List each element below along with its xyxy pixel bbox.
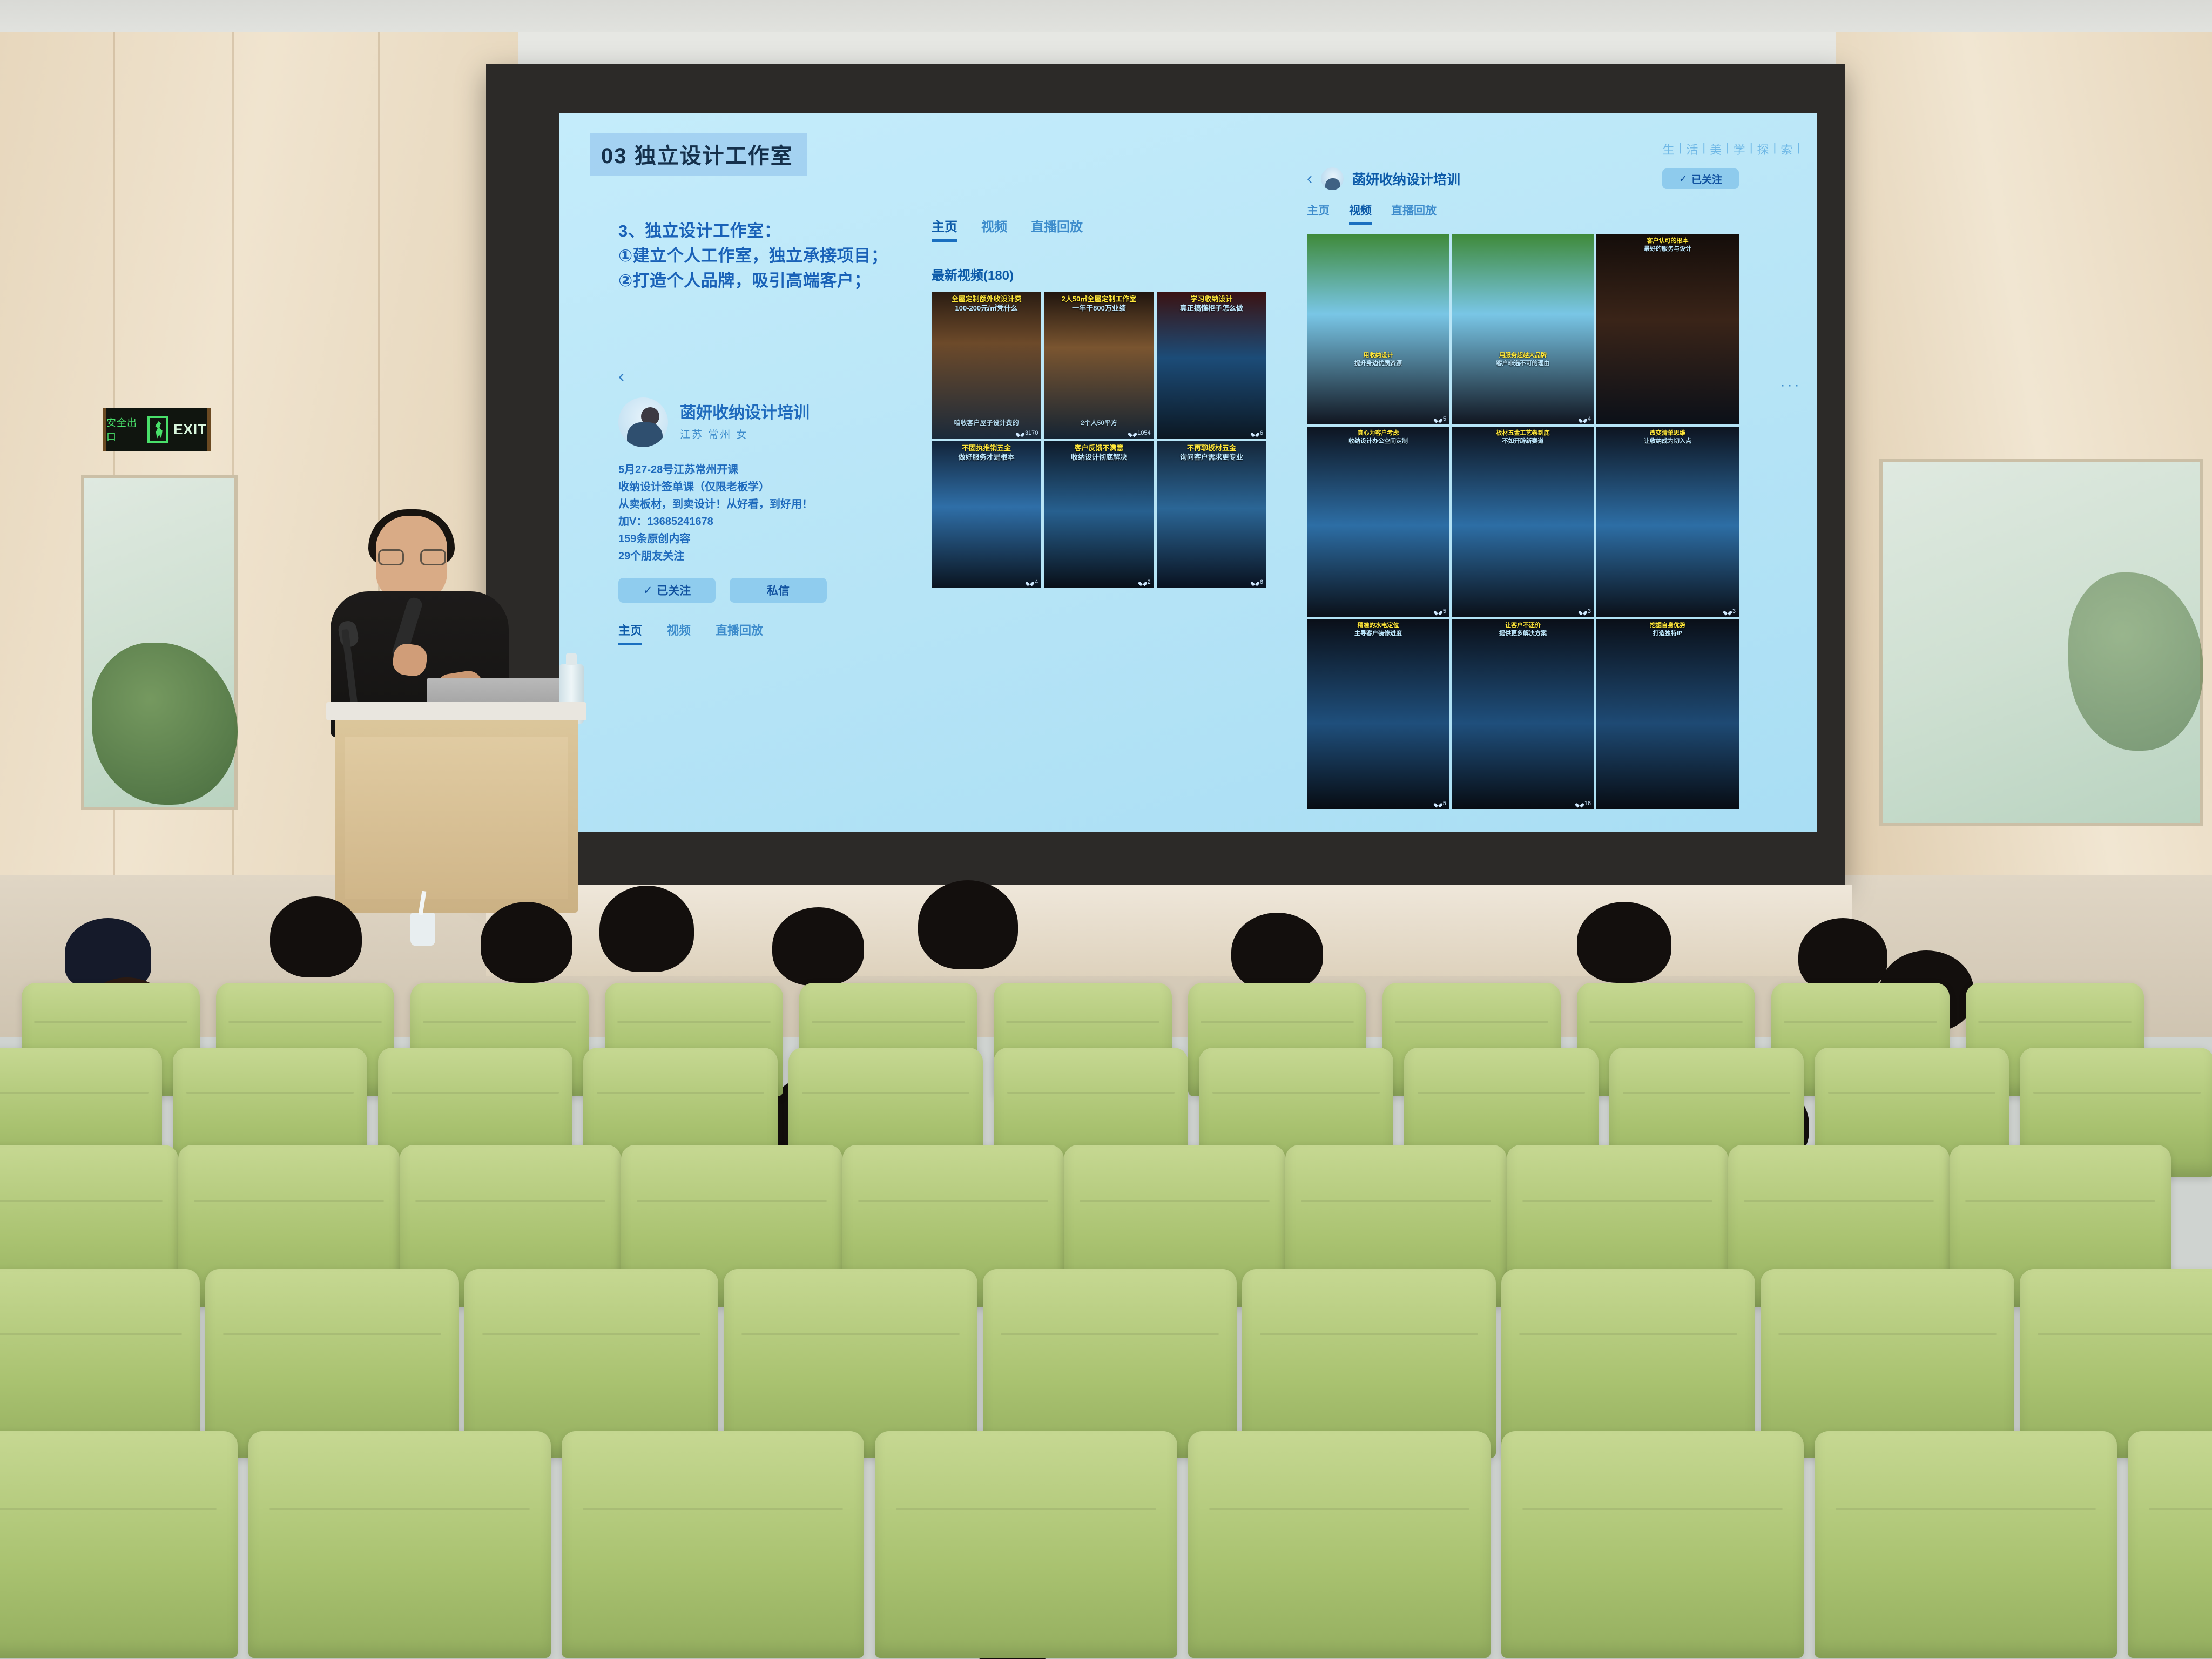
podium xyxy=(335,713,578,913)
video-caption-primary: 板材五金工艺卷到底 xyxy=(1452,430,1594,436)
profile-bio: 5月27-28号江苏常州开课 收纳设计签单课（仅限老板学） 从卖板材，到卖设计！… xyxy=(618,461,867,565)
heart-icon xyxy=(1252,580,1258,585)
middle-tab-home[interactable]: 主页 xyxy=(932,216,957,242)
video-thumbnail-image xyxy=(1596,234,1739,424)
video-like-count: 1054 xyxy=(1130,430,1150,436)
video-like-count: 6 xyxy=(1252,430,1263,436)
video-like-count: 5 xyxy=(1435,800,1446,807)
middle-panel: 主页 视频 直播回放 最新视频(180) 全屋定制额外收设计费100-200元/… xyxy=(932,216,1266,588)
video-caption-secondary: 100-200元/㎡凭什么 xyxy=(932,305,1041,313)
video-caption-primary: 客户反馈不满意 xyxy=(1044,444,1154,453)
audience-member-head xyxy=(270,896,362,977)
video-like-number: 4 xyxy=(1035,579,1038,585)
video-thumbnail-image xyxy=(1307,234,1449,424)
heart-icon xyxy=(1580,417,1586,422)
video-thumbnail-image xyxy=(1157,441,1266,588)
video-caption-primary: 用服务超越大品牌 xyxy=(1452,352,1594,359)
video-thumbnail[interactable]: 不再聊板材五金询问客户需求更专业6 xyxy=(1157,441,1266,588)
slide-title-text: 03 独立设计工作室 xyxy=(601,144,793,168)
video-like-number: 3 xyxy=(1588,608,1591,615)
audience-seat xyxy=(205,1269,459,1458)
video-like-number: 5 xyxy=(1443,800,1446,807)
video-like-number: 6 xyxy=(1260,430,1263,436)
profile-meta: 江苏 常州 女 xyxy=(680,427,810,441)
profile-tab-video[interactable]: 视频 xyxy=(667,621,691,645)
video-like-count: 16 xyxy=(1577,800,1591,807)
follow-button-label: 已关注 xyxy=(657,582,691,598)
audience-seat xyxy=(724,1269,977,1458)
bio-line-1: 收纳设计签单课（仅限老板学） xyxy=(618,478,867,496)
header-tag-5: 索 xyxy=(1781,140,1793,158)
video-thumbnail[interactable]: 让客户不还价提供更多解决方案16 xyxy=(1452,619,1594,809)
profile-screenshot: ‹ 菡妍收纳设计培训 江苏 常州 女 5月27-28号江苏常州开课 收纳设计签单… xyxy=(618,367,867,645)
right-tab-home[interactable]: 主页 xyxy=(1307,202,1330,225)
message-button[interactable]: 私信 xyxy=(730,578,827,603)
profile-name: 菡妍收纳设计培训 xyxy=(680,403,810,423)
video-caption-secondary: 提供更多解决方案 xyxy=(1452,630,1594,637)
video-thumbnail[interactable]: 不固执推销五金做好服务才是根本4 xyxy=(932,441,1041,588)
video-thumbnail[interactable]: 真心为客户考虑收纳设计办公空间定制5 xyxy=(1307,427,1449,617)
video-caption-subtitle: 2个人50平方 xyxy=(1044,420,1154,427)
heart-icon xyxy=(1027,580,1033,585)
video-thumbnail-image xyxy=(932,441,1041,588)
video-thumbnail[interactable]: 精准的水电定位主导客户装修进度5 xyxy=(1307,619,1449,809)
video-caption-secondary: 一年干800万业绩 xyxy=(1044,305,1154,313)
video-caption-secondary: 提升身边优质资源 xyxy=(1307,360,1449,367)
video-caption-primary: 让客户不还价 xyxy=(1452,622,1594,629)
heart-icon xyxy=(1140,580,1145,585)
video-thumbnail[interactable]: 客户认可的根本最好的服务与设计 xyxy=(1596,234,1739,424)
profile-avatar xyxy=(618,397,668,447)
slide-header-tags: 生| 活| 美| 学| 探| 索| xyxy=(1663,140,1801,158)
video-like-count: 4 xyxy=(1027,579,1038,585)
video-caption-secondary: 打造独特IP xyxy=(1596,630,1739,637)
video-caption-primary: 挖掘自身优势 xyxy=(1596,622,1739,629)
video-caption-secondary: 收纳设计彻底解决 xyxy=(1044,454,1154,462)
check-icon: ✓ xyxy=(1679,173,1688,185)
video-caption-primary: 不固执推销五金 xyxy=(932,444,1041,453)
video-caption-primary: 全屋定制额外收设计费 xyxy=(932,295,1041,304)
bullet-1: ①建立个人工作室，独立承接项目； xyxy=(618,244,888,268)
projection-screen-surface: 生| 活| 美| 学| 探| 索| 03 独立设计工作室 3、独立设计工作室： … xyxy=(559,113,1817,832)
video-like-count: 5 xyxy=(1435,608,1446,615)
video-like-number: 2 xyxy=(1148,579,1151,585)
video-thumbnail[interactable]: 用收纳设计提升身边优质资源5 xyxy=(1307,234,1449,424)
audience-member-head xyxy=(1798,918,1887,994)
audience-seat xyxy=(1188,1431,1491,1658)
glasses-icon xyxy=(378,549,446,565)
video-like-number: 16 xyxy=(1584,800,1591,807)
audience-member-head xyxy=(1231,913,1323,991)
video-caption-subtitle: 咱收客户屋子设计费的 xyxy=(932,420,1041,427)
slide-bullets: 3、独立设计工作室： ①建立个人工作室，独立承接项目； ②打造个人品牌，吸引高端… xyxy=(618,219,888,293)
video-thumbnail-image xyxy=(1044,441,1154,588)
video-like-number: 5 xyxy=(1443,608,1446,615)
bio-line-0: 5月27-28号江苏常州开课 xyxy=(618,461,867,478)
video-caption-primary: 不再聊板材五金 xyxy=(1157,444,1266,453)
right-avatar xyxy=(1321,167,1344,190)
header-tag-3: 学 xyxy=(1734,140,1746,158)
video-like-number: 3 xyxy=(1732,608,1736,615)
video-caption-primary: 客户认可的根本 xyxy=(1596,238,1739,244)
video-caption-secondary: 询问客户需求更专业 xyxy=(1157,454,1266,462)
video-like-count: 4 xyxy=(1580,416,1591,422)
heart-icon xyxy=(1017,431,1023,436)
video-thumbnail-image xyxy=(1307,619,1449,809)
video-thumbnail-image xyxy=(1452,427,1594,617)
video-like-count: 3170 xyxy=(1017,430,1038,436)
right-panel: ‹ 菡妍收纳设计培训 ✓ 已关注 主页 视频 直播回放 用收纳设计提升身边优质资… xyxy=(1307,167,1739,809)
exit-sign-cn-label: 安全出口 xyxy=(106,415,142,443)
video-thumbnail-image xyxy=(1596,619,1739,809)
video-like-number: 1054 xyxy=(1137,430,1150,436)
message-button-label: 私信 xyxy=(767,582,790,598)
exit-sign: 安全出口 EXIT xyxy=(103,408,211,451)
video-like-number: 5 xyxy=(1443,416,1446,422)
video-caption-primary: 学习收纳设计 xyxy=(1157,295,1266,304)
audience-seat xyxy=(1815,1431,2117,1658)
audience-seat xyxy=(1761,1269,2014,1458)
header-tag-2: 美 xyxy=(1710,140,1723,158)
right-tab-video[interactable]: 视频 xyxy=(1349,202,1372,225)
follow-button[interactable]: ✓ 已关注 xyxy=(618,578,716,603)
audience-member-head xyxy=(918,880,1018,969)
running-man-icon xyxy=(147,416,168,443)
audience-seat xyxy=(875,1431,1177,1658)
exit-sign-en-label: EXIT xyxy=(173,421,207,438)
right-panel-tabs: 主页 视频 直播回放 xyxy=(1307,202,1739,225)
bio-line-5: 29个朋友关注 xyxy=(618,548,867,565)
audience-seat xyxy=(0,1431,238,1658)
middle-section-title: 最新视频(180) xyxy=(932,265,1266,284)
header-tag-4: 探 xyxy=(1757,140,1770,158)
video-caption-secondary: 主导客户装修进度 xyxy=(1307,630,1449,637)
check-icon: ✓ xyxy=(643,584,653,597)
video-like-count: 3 xyxy=(1725,608,1736,615)
audience-seat xyxy=(2128,1431,2212,1658)
audience-seating xyxy=(0,983,2212,1659)
middle-tab-video[interactable]: 视频 xyxy=(981,216,1007,242)
bullet-0: 3、独立设计工作室： xyxy=(618,219,888,244)
video-thumbnail[interactable]: 客户反馈不满意收纳设计彻底解决2 xyxy=(1044,441,1154,588)
heart-icon xyxy=(1130,431,1135,436)
video-thumbnail-image xyxy=(1452,619,1594,809)
video-thumbnail[interactable]: 2人50㎡全屋定制工作室一年干800万业绩2个人50平方1054 xyxy=(1044,292,1154,439)
video-thumbnail-image xyxy=(1452,234,1594,424)
video-caption-secondary: 让收纳成为切入点 xyxy=(1596,438,1739,444)
video-like-count: 3 xyxy=(1580,608,1591,615)
video-thumbnail-image xyxy=(1596,427,1739,617)
video-caption-primary: 真心为客户考虑 xyxy=(1307,430,1449,436)
presentation-slide: 生| 活| 美| 学| 探| 索| 03 独立设计工作室 3、独立设计工作室： … xyxy=(559,113,1817,832)
bio-line-4: 159条原创内容 xyxy=(618,530,867,548)
heart-icon xyxy=(1725,609,1730,614)
profile-tab-home[interactable]: 主页 xyxy=(618,621,642,645)
video-caption-secondary: 收纳设计办公空间定制 xyxy=(1307,438,1449,444)
bullet-2: ②打造个人品牌，吸引高端客户； xyxy=(618,268,888,293)
profile-back-icon[interactable]: ‹ xyxy=(618,367,867,386)
header-tag-0: 生 xyxy=(1663,140,1676,158)
video-thumbnail[interactable]: 用服务超越大品牌客户非选不可的理由4 xyxy=(1452,234,1594,424)
video-caption-secondary: 真正搞懂柜子怎么做 xyxy=(1157,305,1266,313)
heart-icon xyxy=(1435,417,1441,422)
right-tab-replay[interactable]: 直播回放 xyxy=(1391,202,1437,225)
video-caption-primary: 用收纳设计 xyxy=(1307,352,1449,359)
profile-tabs: 主页 视频 直播回放 xyxy=(618,621,867,645)
header-tag-1: 活 xyxy=(1686,140,1699,158)
more-dots-icon[interactable]: ··· xyxy=(1780,376,1801,394)
middle-panel-tabs: 主页 视频 直播回放 xyxy=(932,216,1266,242)
audience-seat xyxy=(562,1431,864,1658)
video-caption-primary: 改变清单思维 xyxy=(1596,430,1739,436)
right-profile-name: 菡妍收纳设计培训 xyxy=(1352,169,1460,188)
video-thumbnail-image xyxy=(932,292,1041,439)
video-caption-secondary: 做好服务才是根本 xyxy=(932,454,1041,462)
audience-seat xyxy=(1501,1269,1755,1458)
video-thumbnail[interactable]: 改变清单思维让收纳成为切入点3 xyxy=(1596,427,1739,617)
video-like-count: 2 xyxy=(1140,579,1151,585)
video-like-count: 6 xyxy=(1252,579,1263,585)
audience-member-head xyxy=(65,918,151,988)
video-like-number: 6 xyxy=(1260,579,1263,585)
audience-member-head xyxy=(481,902,572,983)
video-thumbnail[interactable]: 全屋定制额外收设计费100-200元/㎡凭什么咱收客户屋子设计费的3170 xyxy=(932,292,1041,439)
video-like-number: 4 xyxy=(1588,416,1591,422)
video-caption-primary: 2人50㎡全屋定制工作室 xyxy=(1044,295,1154,304)
video-caption-secondary: 不如开辟新赛道 xyxy=(1452,438,1594,444)
video-thumbnail-image xyxy=(1157,292,1266,439)
bio-line-3: 加V：13685241678 xyxy=(618,513,867,530)
right-follow-button[interactable]: ✓ 已关注 xyxy=(1662,168,1739,189)
audience-seat xyxy=(2020,1269,2212,1458)
video-thumbnail[interactable]: 学习收纳设计真正搞懂柜子怎么做6 xyxy=(1157,292,1266,439)
video-thumbnail[interactable]: 挖掘自身优势打造独特IP xyxy=(1596,619,1739,809)
video-caption-secondary: 最好的服务与设计 xyxy=(1596,246,1739,252)
video-caption-primary: 精准的水电定位 xyxy=(1307,622,1449,629)
drink-cup xyxy=(410,913,435,946)
audience-seat xyxy=(0,1269,200,1458)
audience-seat xyxy=(1501,1431,1804,1658)
audience-seat xyxy=(248,1431,551,1658)
video-caption-secondary: 客户非选不可的理由 xyxy=(1452,360,1594,367)
audience-seat xyxy=(983,1269,1237,1458)
right-follow-label: 已关注 xyxy=(1691,172,1722,186)
heart-icon xyxy=(1577,801,1582,806)
audience-member-head xyxy=(599,886,694,972)
heart-icon xyxy=(1252,431,1258,436)
heart-icon xyxy=(1580,609,1586,614)
middle-tab-replay[interactable]: 直播回放 xyxy=(1031,216,1083,242)
lecture-hall-scene: 安全出口 EXIT 生| 活| 美| 学| 探| 索| 03 独立设计工作室 3… xyxy=(0,0,2212,1659)
right-video-grid: 用收纳设计提升身边优质资源5用服务超越大品牌客户非选不可的理由4客户认可的根本最… xyxy=(1307,234,1739,809)
heart-icon xyxy=(1435,609,1441,614)
right-back-icon[interactable]: ‹ xyxy=(1307,170,1312,188)
audience-member-head xyxy=(772,907,864,986)
audience-seat xyxy=(1242,1269,1496,1458)
audience-member-head xyxy=(1577,902,1671,983)
middle-video-grid: 全屋定制额外收设计费100-200元/㎡凭什么咱收客户屋子设计费的31702人5… xyxy=(932,292,1266,588)
video-like-count: 5 xyxy=(1435,416,1446,422)
bio-line-2: 从卖板材，到卖设计！从好看，到好用！ xyxy=(618,496,867,513)
video-thumbnail-image xyxy=(1044,292,1154,439)
audience-seat xyxy=(464,1269,718,1458)
heart-icon xyxy=(1435,801,1441,806)
video-thumbnail[interactable]: 板材五金工艺卷到底不如开辟新赛道3 xyxy=(1452,427,1594,617)
video-thumbnail-image xyxy=(1307,427,1449,617)
video-like-number: 3170 xyxy=(1025,430,1038,436)
slide-title: 03 独立设计工作室 xyxy=(590,133,807,176)
profile-tab-replay[interactable]: 直播回放 xyxy=(716,621,763,645)
